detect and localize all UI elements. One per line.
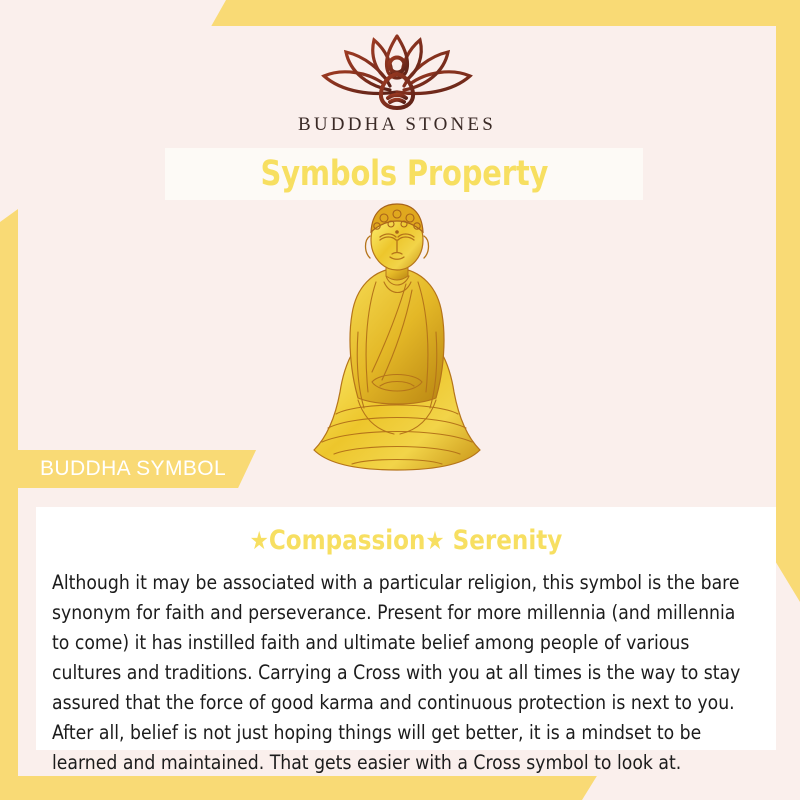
brand-name: BUDDHA STONES (298, 114, 496, 136)
article-body: Although it may be associated with a par… (52, 568, 749, 778)
content-plate: BUDDHA STONES Symbols Property (18, 26, 776, 776)
article-card: ★Compassion★ Serenity Although it may be… (36, 507, 776, 750)
title-banner: Symbols Property (165, 148, 643, 200)
article-subtitle: ★Compassion★ Serenity (70, 525, 743, 556)
lotus-meditation-figure-icon (302, 30, 492, 118)
section-ribbon-label: BUDDHA SYMBOL (40, 457, 226, 481)
buddha-statue-icon (306, 202, 488, 502)
page-title: Symbols Property (260, 154, 548, 194)
star-icon-1: ★ (250, 526, 269, 555)
star-icon-2: ★ (425, 526, 444, 555)
subtitle-word-1: Compassion (269, 525, 426, 556)
subtitle-word-2: Serenity (445, 525, 563, 556)
infographic-page: BUDDHA STONES Symbols Property (0, 0, 800, 800)
brand-logo: BUDDHA STONES (18, 26, 776, 146)
section-ribbon: BUDDHA SYMBOL (18, 450, 256, 488)
